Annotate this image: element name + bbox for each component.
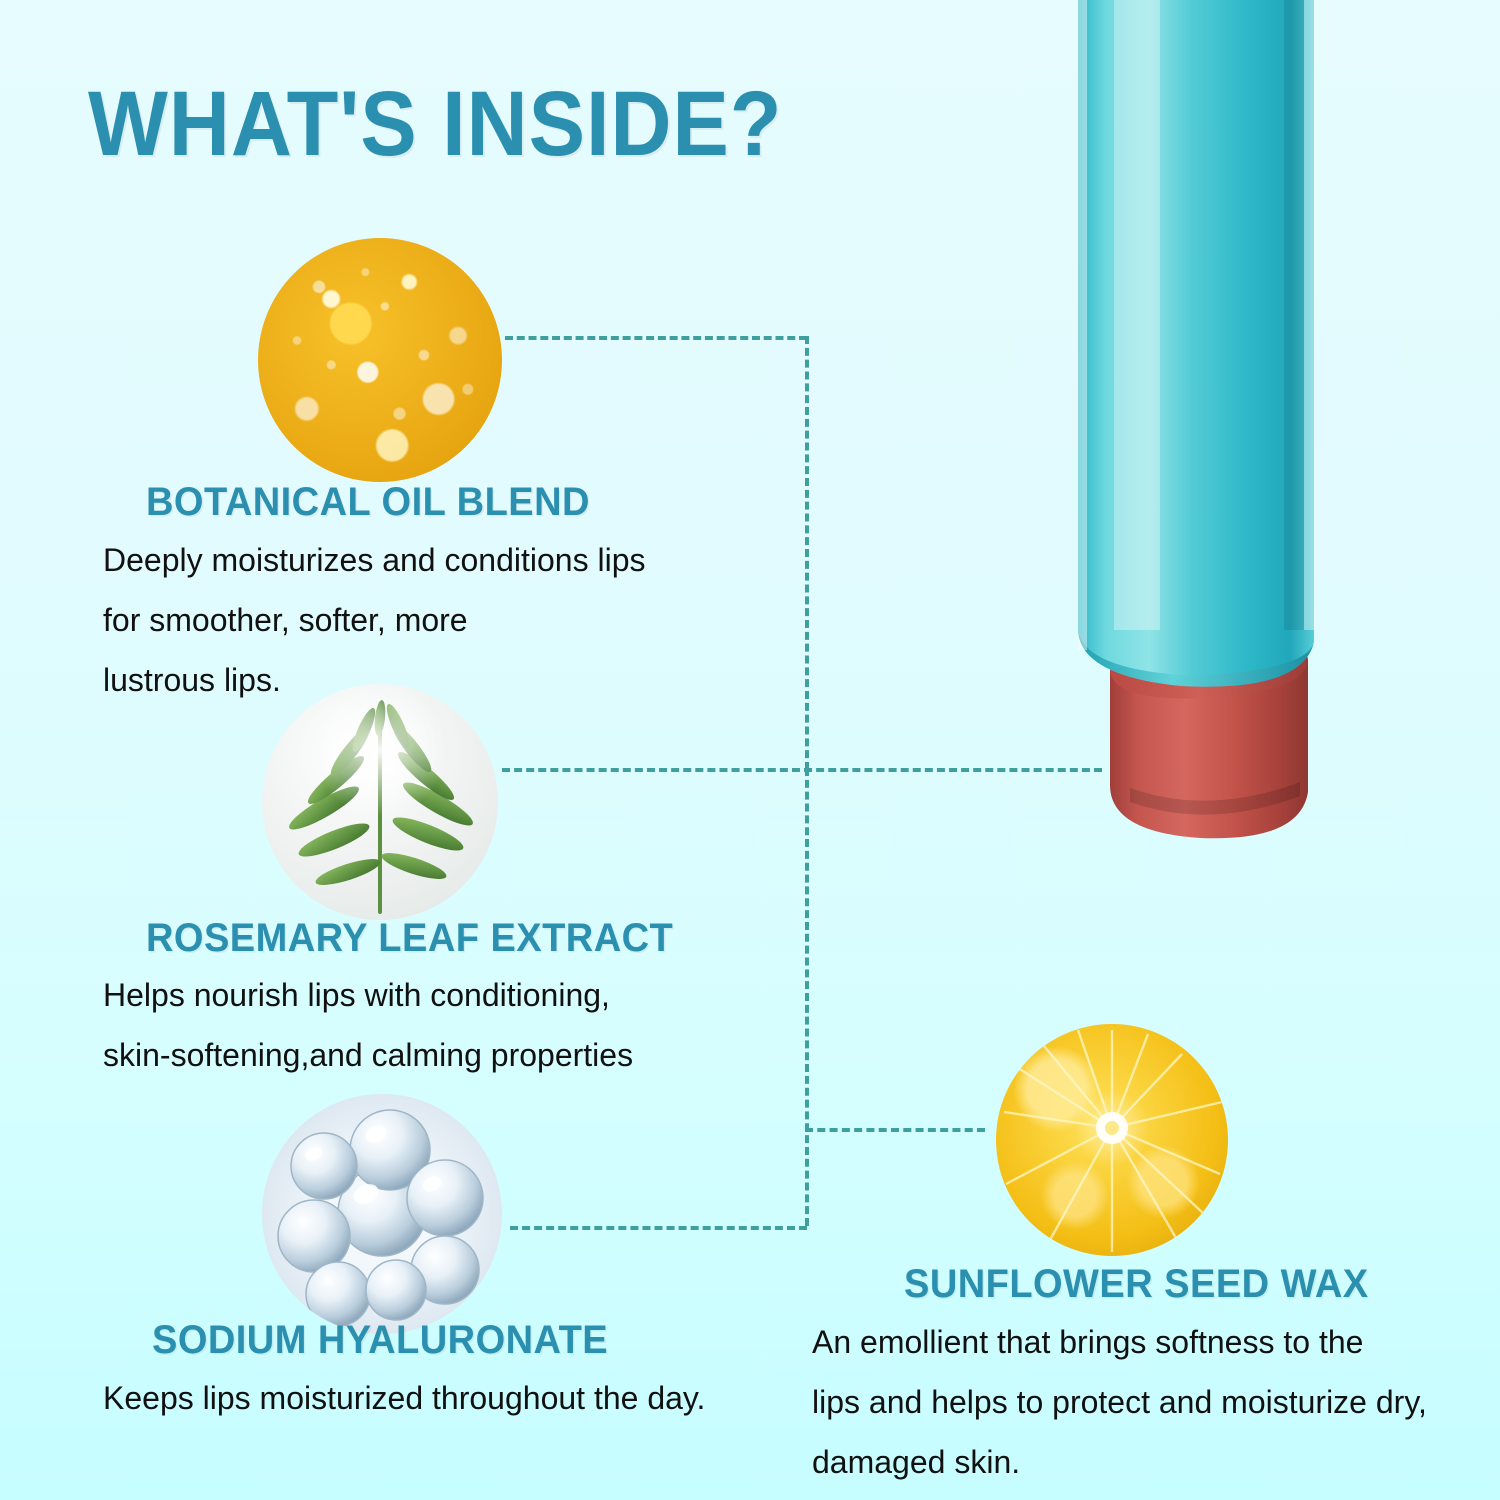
water-droplets-icon bbox=[262, 1094, 502, 1334]
ingredient-rosemary-leaf-extract: ROSEMARY LEAF EXTRACT bbox=[146, 916, 701, 961]
ingredient-image-rosemary-leaf-extract bbox=[262, 684, 498, 920]
ingredient-heading: BOTANICAL OIL BLEND bbox=[146, 480, 590, 525]
body-line: damaged skin. bbox=[812, 1432, 1427, 1492]
wax-sunburst-icon bbox=[996, 1024, 1228, 1256]
lipstick-product-image bbox=[1070, 0, 1410, 850]
body-line: Keeps lips moisturized throughout the da… bbox=[103, 1368, 705, 1428]
connector-trunk-lower bbox=[805, 768, 809, 1226]
ingredient-heading: SODIUM HYALURONATE bbox=[152, 1318, 608, 1363]
body-line: lips and helps to protect and moisturize… bbox=[812, 1372, 1427, 1432]
ingredient-body-sodium-hyaluronate: Keeps lips moisturized throughout the da… bbox=[103, 1368, 705, 1428]
ingredient-body-sunflower-seed-wax: An emollient that brings softness to the… bbox=[812, 1312, 1427, 1492]
connector-trunk-upper bbox=[805, 336, 809, 770]
ingredient-heading: ROSEMARY LEAF EXTRACT bbox=[146, 916, 673, 961]
connector-rosemary-to-product bbox=[502, 768, 1102, 772]
body-line: Deeply moisturizes and conditions lips bbox=[103, 530, 645, 590]
rosemary-sprig-icon bbox=[262, 684, 498, 920]
ingredient-image-sodium-hyaluronate bbox=[262, 1094, 502, 1334]
ingredient-image-botanical-oil-blend bbox=[258, 238, 502, 482]
connector-hyaluronate-branch bbox=[510, 1226, 807, 1230]
connector-sunflower-branch bbox=[805, 1128, 985, 1132]
ingredient-botanical-oil-blend: BOTANICAL OIL BLEND bbox=[146, 480, 613, 525]
ingredient-body-botanical-oil-blend: Deeply moisturizes and conditions lips f… bbox=[103, 530, 645, 710]
body-line: An emollient that brings softness to the bbox=[812, 1312, 1427, 1372]
ingredient-image-sunflower-seed-wax bbox=[996, 1024, 1228, 1256]
infographic-canvas: WHAT'S INSIDE? bbox=[0, 0, 1500, 1500]
lipstick-svg bbox=[1070, 0, 1410, 850]
ingredient-heading: SUNFLOWER SEED WAX bbox=[904, 1262, 1369, 1307]
ingredient-sodium-hyaluronate: SODIUM HYALURONATE bbox=[152, 1318, 632, 1363]
body-line: skin-softening,and calming properties bbox=[103, 1025, 633, 1085]
ingredient-body-rosemary-leaf-extract: Helps nourish lips with conditioning, sk… bbox=[103, 965, 633, 1085]
ingredient-sunflower-seed-wax: SUNFLOWER SEED WAX bbox=[904, 1262, 1393, 1307]
page-title: WHAT'S INSIDE? bbox=[88, 78, 782, 170]
body-line: Helps nourish lips with conditioning, bbox=[103, 965, 633, 1025]
connector-oil-branch bbox=[505, 336, 807, 340]
body-line: for smoother, softer, more bbox=[103, 590, 645, 650]
